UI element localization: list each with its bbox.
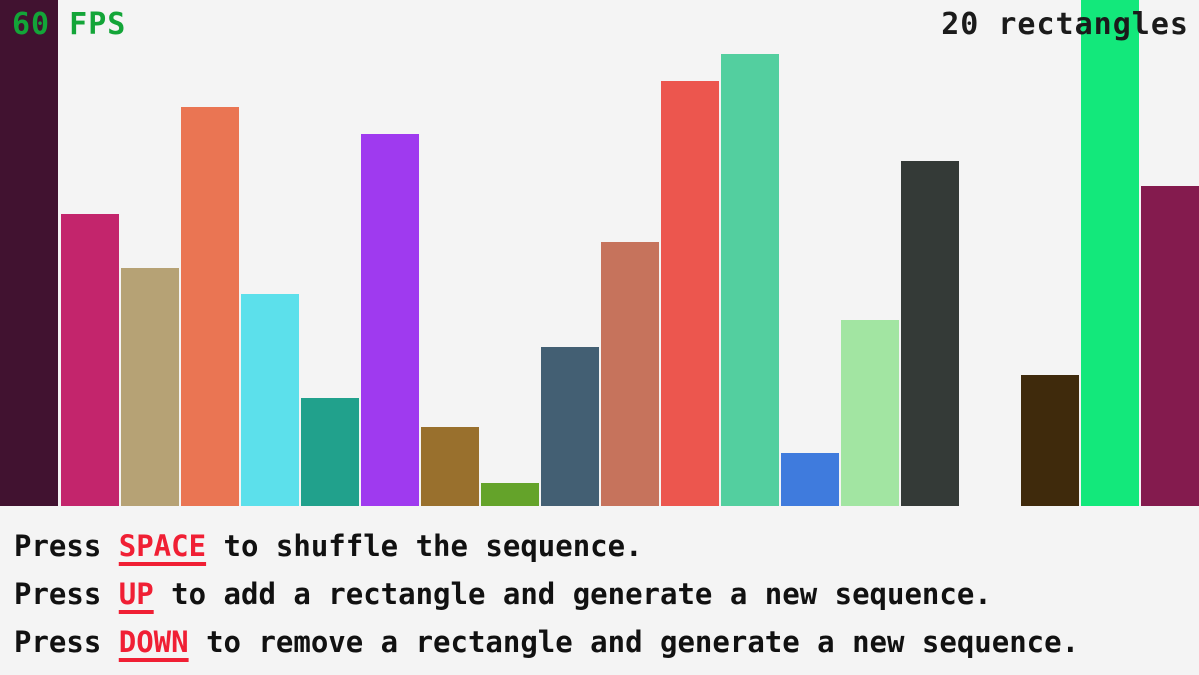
bar-chart-canvas[interactable] (0, 0, 1199, 506)
bar-18 (1021, 375, 1079, 506)
bar-3 (121, 268, 179, 506)
bar-14 (781, 453, 839, 506)
instruction-line-down: Press DOWN to remove a rectangle and gen… (14, 618, 1199, 666)
instruction-line-up: Press UP to add a rectangle and generate… (14, 570, 1199, 618)
bar-7 (361, 134, 419, 506)
instructions-panel: Press SPACE to shuffle the sequence. Pre… (0, 506, 1199, 675)
key-space[interactable]: SPACE (119, 529, 206, 563)
bar-12 (661, 81, 719, 506)
instruction-prefix: Press (14, 577, 119, 611)
bar-15 (841, 320, 899, 506)
rectangle-count-label: 20 rectangles (941, 8, 1189, 42)
bar-6 (301, 398, 359, 506)
instruction-suffix: to shuffle the sequence. (206, 529, 643, 563)
fps-counter: 60 FPS (12, 8, 126, 42)
rectangle-demo-app: 60 FPS 20 rectangles Press SPACE to shuf… (0, 0, 1199, 675)
bar-8 (421, 427, 479, 506)
bar-9 (481, 483, 539, 506)
bar-2 (61, 214, 119, 506)
bar-1 (0, 0, 58, 506)
bar-11 (601, 242, 659, 506)
key-down[interactable]: DOWN (119, 625, 189, 659)
instruction-prefix: Press (14, 625, 119, 659)
bar-4 (181, 107, 239, 506)
instruction-suffix: to add a rectangle and generate a new se… (154, 577, 992, 611)
bar-10 (541, 347, 599, 506)
instruction-line-space: Press SPACE to shuffle the sequence. (14, 522, 1199, 570)
instruction-suffix: to remove a rectangle and generate a new… (189, 625, 1079, 659)
instruction-prefix: Press (14, 529, 119, 563)
bar-20 (1141, 186, 1199, 506)
bar-16 (901, 161, 959, 506)
bar-13 (721, 54, 779, 506)
bar-5 (241, 294, 299, 506)
bar-19 (1081, 0, 1139, 506)
key-up[interactable]: UP (119, 577, 154, 611)
